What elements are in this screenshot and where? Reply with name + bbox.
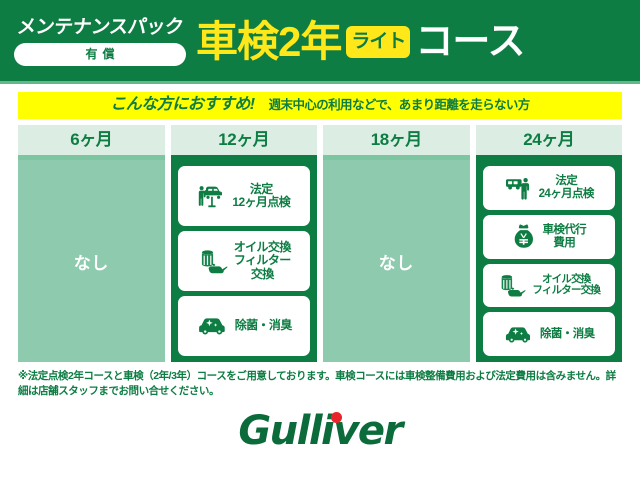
none-label-6-months: なし <box>74 249 109 274</box>
column-header-6-months: 6ヶ月 <box>18 125 165 155</box>
paid-badge: 有償 <box>14 43 186 66</box>
service-schedule-table: 6ヶ月 なし 12ヶ月 <box>0 119 640 362</box>
service-item-inspection-agency-fee: 車検代行 費用 <box>483 215 616 259</box>
sparkle-car-icon <box>503 324 535 345</box>
service-label-sanitize-deodorize-12: 除菌・消臭 <box>235 319 292 332</box>
column-body-24-months: 法定 24ヶ月点検 <box>476 160 623 362</box>
column-body-12-months: 法定 12ヶ月点検 <box>171 160 318 362</box>
oil-filter-icon <box>497 271 527 299</box>
service-label-inspection-agency-fee: 車検代行 費用 <box>542 224 586 250</box>
service-item-oil-filter-change-12: オイル交換 フィルター 交換 <box>178 231 311 291</box>
service-item-statutory-24-month-inspection: 法定 24ヶ月点検 <box>483 166 616 210</box>
service-label-statutory-24-month-inspection: 法定 24ヶ月点検 <box>539 175 594 201</box>
service-label-statutory-12-month-inspection: 法定 12ヶ月点検 <box>232 183 290 210</box>
course-suffix-label: コース <box>415 23 524 61</box>
recommend-subtext: 週末中心の利用などで、あまり距離を走らない方 <box>269 99 530 112</box>
header-divider <box>0 81 640 84</box>
service-item-oil-filter-change-24: オイル交換 フィルター交換 <box>483 264 616 308</box>
service-item-sanitize-deodorize-12: 除菌・消臭 <box>178 296 311 356</box>
recommend-section: こんな方におすすめ! 週末中心の利用などで、あまり距離を走らない方 <box>0 84 640 119</box>
sparkle-car-icon <box>196 315 230 337</box>
header-banner: メンテナンスパック 有償 車検2年 ライト コース <box>0 0 640 84</box>
oil-filter-icon <box>197 246 229 276</box>
column-18-months: 18ヶ月 なし <box>323 125 470 362</box>
column-header-24-months: 24ヶ月 <box>476 125 623 155</box>
brand-logo-area: Gulliver <box>0 399 640 451</box>
recommend-headline: こんな方におすすめ! <box>110 97 254 113</box>
column-body-6-months: なし <box>18 160 165 362</box>
none-label-18-months: なし <box>379 249 414 274</box>
column-6-months: 6ヶ月 なし <box>18 125 165 362</box>
course-main-title: 車検2年 <box>196 21 341 63</box>
column-header-12-months: 12ヶ月 <box>171 125 318 155</box>
maintenance-pack-block: メンテナンスパック 有償 <box>14 18 186 66</box>
service-label-oil-filter-change-24: オイル交換 フィルター交換 <box>532 274 600 298</box>
column-24-months: 24ヶ月 <box>476 125 623 362</box>
course-title-block: 車検2年 ライト コース <box>196 21 626 63</box>
column-body-18-months: なし <box>323 160 470 362</box>
advertisement-page: メンテナンスパック 有償 車検2年 ライト コース こんな方におすすめ! 週末中… <box>0 0 640 480</box>
column-12-months: 12ヶ月 <box>171 125 318 362</box>
money-bag-yen-icon <box>511 223 537 251</box>
maintenance-pack-title: メンテナンスパック <box>16 18 184 37</box>
service-item-sanitize-deodorize-24: 除菌・消臭 <box>483 312 616 356</box>
car-on-lift-icon <box>197 182 227 210</box>
gulliver-logo: Gulliver <box>238 411 401 451</box>
disclaimer-note: ※法定点検2年コースと車検（2年/3年）コースをご用意しております。車検コースに… <box>0 362 640 399</box>
column-header-18-months: 18ヶ月 <box>323 125 470 155</box>
gulliver-logo-text: Gulliver <box>238 408 401 454</box>
service-label-oil-filter-change-12: オイル交換 フィルター 交換 <box>234 241 291 281</box>
recommend-bar: こんな方におすすめ! 週末中心の利用などで、あまり距離を走らない方 <box>18 92 622 119</box>
light-badge: ライト <box>346 26 410 58</box>
van-attendant-icon <box>504 175 534 201</box>
service-item-statutory-12-month-inspection: 法定 12ヶ月点検 <box>178 166 311 226</box>
service-label-sanitize-deodorize-24: 除菌・消臭 <box>540 328 595 341</box>
